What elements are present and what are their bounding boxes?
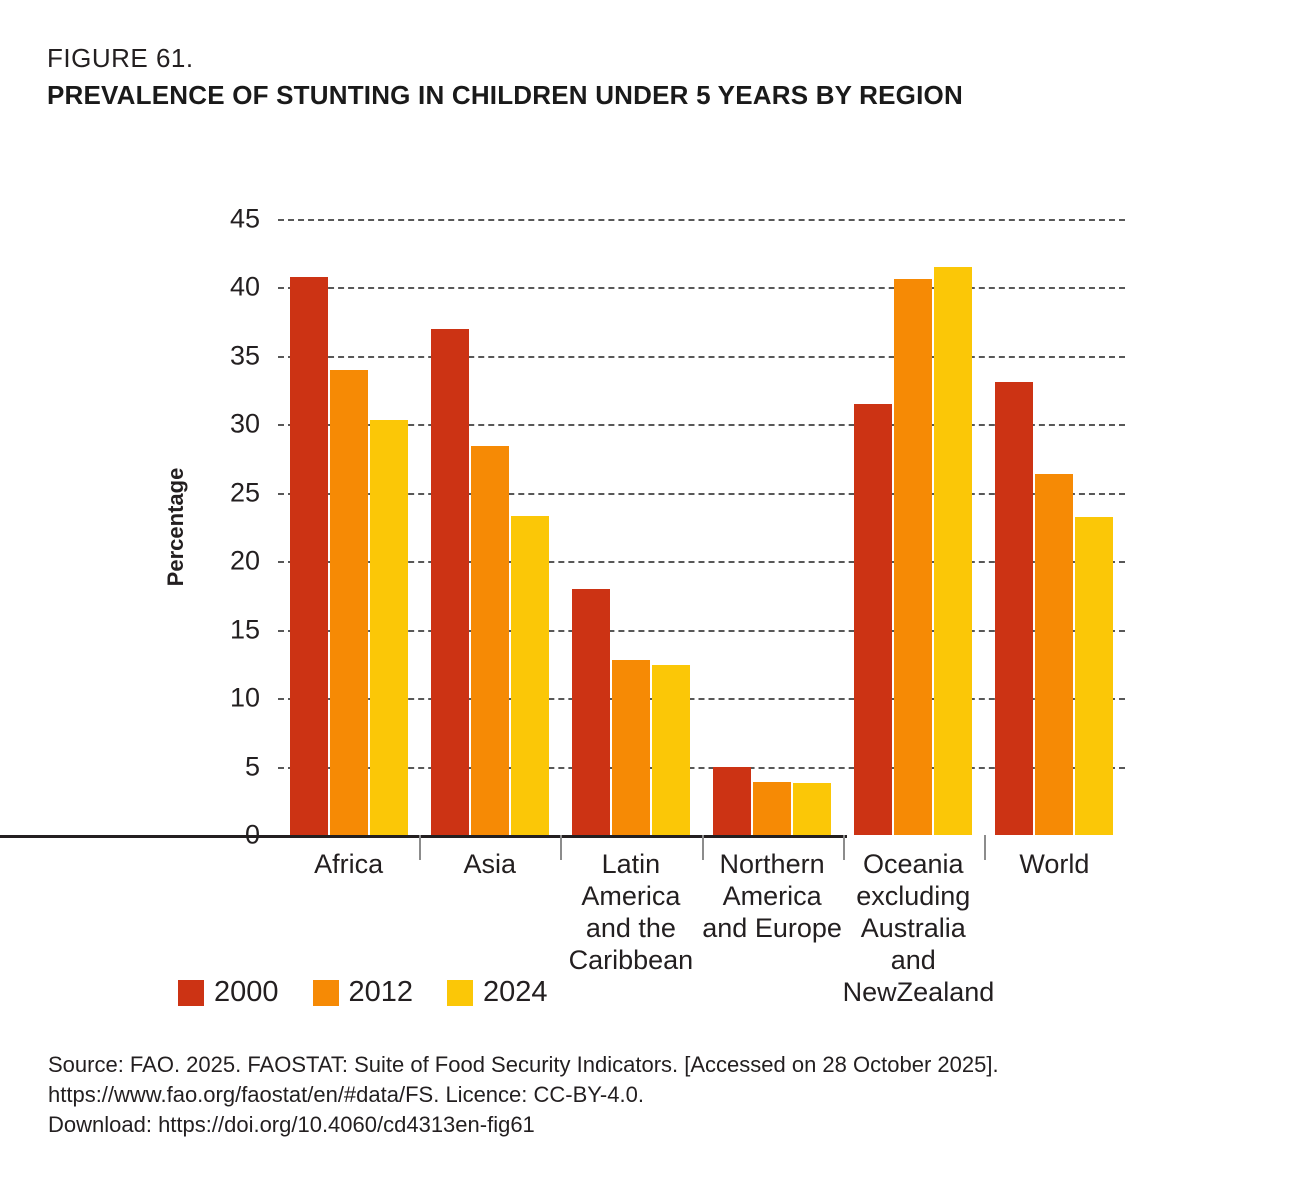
bar-2000-northern[interactable] xyxy=(713,767,751,835)
bar-2000-latin[interactable] xyxy=(572,589,610,835)
x-axis-label-world: World xyxy=(984,848,1125,880)
legend-item-2024[interactable]: 2024 xyxy=(447,978,548,1007)
bar-group xyxy=(290,219,408,835)
x-axis-label-line: World xyxy=(984,848,1125,880)
plot-area xyxy=(278,219,1125,835)
bar-2000-africa[interactable] xyxy=(290,277,328,836)
source-note: Source: FAO. 2025. FAOSTAT: Suite of Foo… xyxy=(48,1050,1228,1140)
legend-item-2000[interactable]: 2000 xyxy=(178,978,279,1007)
x-axis-label-line: and the xyxy=(560,912,701,944)
y-axis-tick-label: 45 xyxy=(200,204,260,235)
x-axis-label-line: America xyxy=(702,880,843,912)
x-axis-label-line: and xyxy=(843,944,984,976)
x-axis-label-line: Africa xyxy=(278,848,419,880)
bar-2012-latin[interactable] xyxy=(612,660,650,835)
legend-label: 2024 xyxy=(483,978,548,1007)
x-axis-label-line: Asia xyxy=(419,848,560,880)
bar-2024-world[interactable] xyxy=(1075,517,1113,835)
y-axis-tick-label: 10 xyxy=(200,683,260,714)
bar-2012-northern[interactable] xyxy=(753,782,791,835)
legend-swatch-icon xyxy=(178,980,204,1006)
bar-2012-africa[interactable] xyxy=(330,370,368,835)
x-axis-label-line: Oceania xyxy=(843,848,984,880)
y-axis-title: Percentage xyxy=(163,468,189,587)
y-axis-tick-label: 5 xyxy=(200,751,260,782)
bar-2012-world[interactable] xyxy=(1035,474,1073,835)
x-axis-label-oceania: OceaniaexcludingAustraliaandNewZealand xyxy=(843,848,984,1008)
source-line-3: Download: https://doi.org/10.4060/cd4313… xyxy=(48,1110,1228,1140)
x-axis-label-line: Australia xyxy=(843,912,984,944)
x-axis-label-line: America xyxy=(560,880,701,912)
x-axis-label-northern: NorthernAmericaand Europe xyxy=(702,848,843,944)
x-axis-group-separator xyxy=(278,835,280,860)
x-axis-label-africa: Africa xyxy=(278,848,419,880)
bar-2024-northern[interactable] xyxy=(793,783,831,835)
bar-group xyxy=(431,219,549,835)
x-axis-label-latin: LatinAmericaand theCaribbean xyxy=(560,848,701,976)
bar-2024-asia[interactable] xyxy=(511,516,549,835)
bar-2024-latin[interactable] xyxy=(652,665,690,835)
legend-swatch-icon xyxy=(447,980,473,1006)
bar-group xyxy=(572,219,690,835)
bar-2024-africa[interactable] xyxy=(370,420,408,835)
y-axis-tick-label: 40 xyxy=(200,272,260,303)
y-axis-tick-label: 15 xyxy=(200,614,260,645)
bar-2000-oceania[interactable] xyxy=(854,404,892,835)
x-axis-label-asia: Asia xyxy=(419,848,560,880)
legend-label: 2000 xyxy=(214,978,279,1007)
x-axis-label-line: and Europe xyxy=(702,912,843,944)
legend: 200020122024 xyxy=(178,978,548,1007)
bar-2024-oceania[interactable] xyxy=(934,267,972,835)
bar-group xyxy=(854,219,972,835)
y-axis-tick-label: 30 xyxy=(200,409,260,440)
y-axis-tick-label: 20 xyxy=(200,546,260,577)
bar-2012-oceania[interactable] xyxy=(894,279,932,835)
bar-group xyxy=(995,219,1113,835)
x-axis-line xyxy=(0,835,847,838)
x-axis-label-line: Northern xyxy=(702,848,843,880)
legend-label: 2012 xyxy=(349,978,414,1007)
source-line-1: Source: FAO. 2025. FAOSTAT: Suite of Foo… xyxy=(48,1050,1228,1080)
x-axis-label-line: NewZealand xyxy=(843,976,984,1008)
x-axis-label-line: Caribbean xyxy=(560,944,701,976)
y-axis-tick-label: 35 xyxy=(200,340,260,371)
x-axis-label-line: Latin xyxy=(560,848,701,880)
bar-2000-world[interactable] xyxy=(995,382,1033,835)
y-axis-tick-label: 25 xyxy=(200,477,260,508)
x-axis-label-line: excluding xyxy=(843,880,984,912)
legend-swatch-icon xyxy=(313,980,339,1006)
bar-2012-asia[interactable] xyxy=(471,446,509,835)
source-line-2: https://www.fao.org/faostat/en/#data/FS.… xyxy=(48,1080,1228,1110)
legend-item-2012[interactable]: 2012 xyxy=(313,978,414,1007)
bar-group xyxy=(713,219,831,835)
bar-2000-asia[interactable] xyxy=(431,329,469,835)
